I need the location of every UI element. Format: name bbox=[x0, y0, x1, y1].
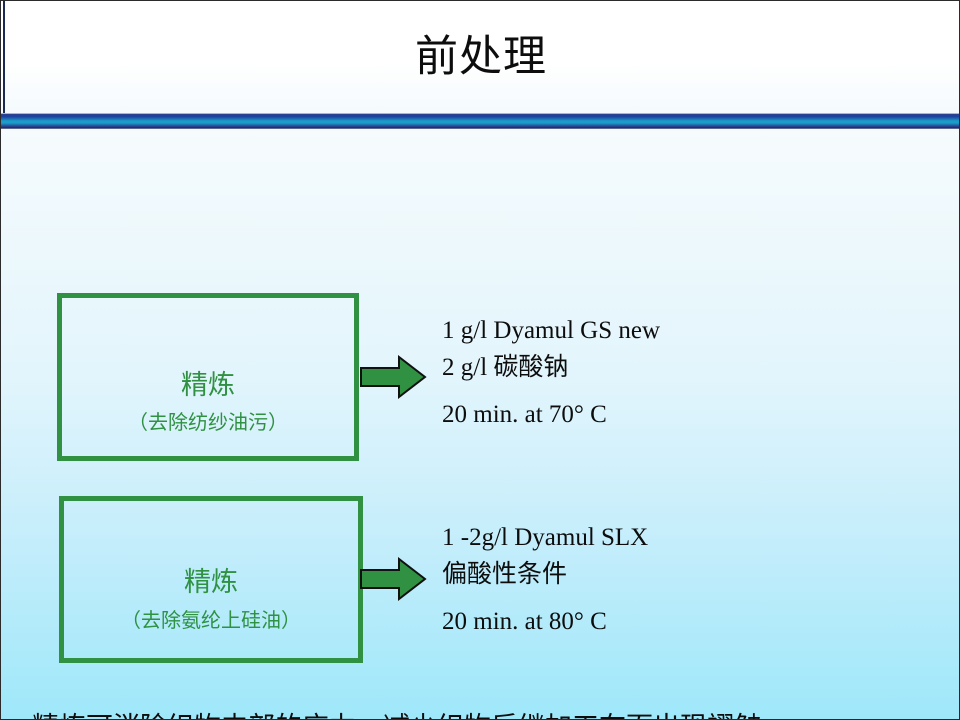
footnote-line-1: 精炼可消除织物内部的应力，减少织物后继加工布面出现褶皱 bbox=[32, 707, 932, 720]
process-box-refine-oil[interactable]: 精炼 （去除纺纱油污） bbox=[57, 293, 359, 461]
recipe-block-step-2: 1 -2g/l Dyamul SLX 偏酸性条件 20 min. at 80° … bbox=[442, 519, 648, 640]
process-box-subtitle: （去除纺纱油污） bbox=[62, 409, 354, 437]
right-arrow-icon bbox=[359, 557, 427, 601]
recipe-line: 偏酸性条件 bbox=[442, 556, 648, 593]
process-box-title: 精炼 bbox=[62, 368, 354, 402]
recipe-line: 20 min. at 70° C bbox=[442, 396, 660, 433]
recipe-line: 1 -2g/l Dyamul SLX bbox=[442, 519, 648, 556]
recipe-line: 20 min. at 80° C bbox=[442, 603, 648, 640]
process-box-title: 精炼 bbox=[64, 565, 358, 599]
recipe-line: 2 g/l 碳酸钠 bbox=[442, 349, 660, 386]
slide-body: 精炼 （去除纺纱油污） 1 g/l Dyamul GS new 2 g/l 碳酸… bbox=[1, 129, 960, 720]
process-box-subtitle: （去除氨纶上硅油） bbox=[64, 607, 358, 635]
title-divider bbox=[1, 113, 960, 129]
footnote-paragraph: 精炼可消除织物内部的应力，减少织物后继加工布面出现褶皱 的可能，故即便不除油，也… bbox=[32, 707, 932, 720]
slide-header: 前处理 bbox=[1, 1, 960, 113]
recipe-block-step-1: 1 g/l Dyamul GS new 2 g/l 碳酸钠 20 min. at… bbox=[442, 312, 660, 433]
page-title: 前处理 bbox=[1, 29, 960, 87]
slide-canvas: 前处理 精炼 （去除纺纱油污） 1 g/l Dyamul GS new 2 g/… bbox=[0, 0, 960, 720]
recipe-line: 1 g/l Dyamul GS new bbox=[442, 312, 660, 349]
process-box-refine-silicone[interactable]: 精炼 （去除氨纶上硅油） bbox=[59, 496, 363, 663]
right-arrow-icon bbox=[359, 355, 427, 399]
